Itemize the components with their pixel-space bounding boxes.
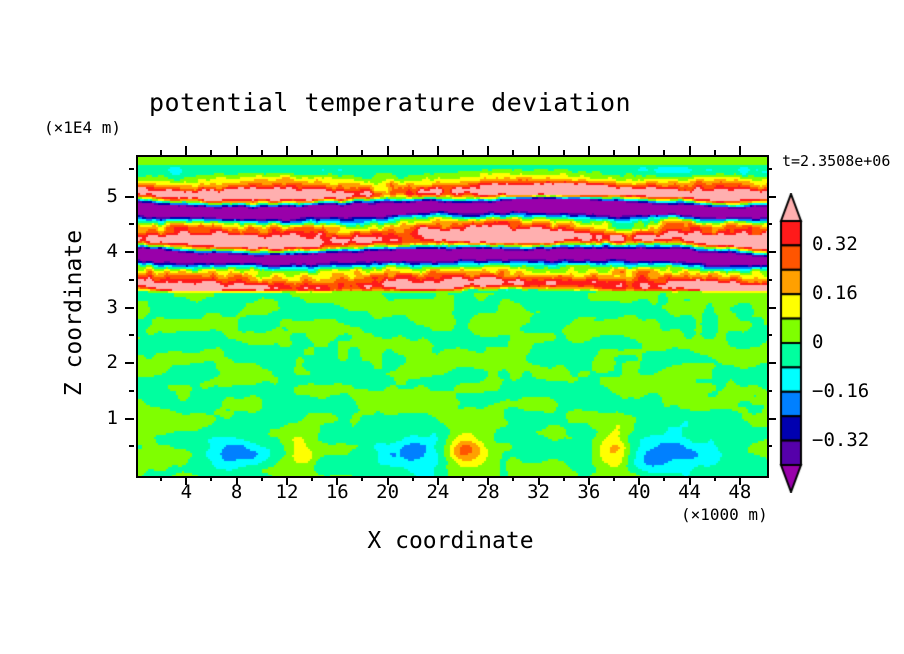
- x-minor-tick-mark: [714, 476, 716, 481]
- y-minor-tick-mark: [129, 334, 134, 336]
- x-tick-label: 44: [670, 481, 710, 503]
- x-minor-tick-mark: [512, 476, 514, 481]
- colorbar-tick-label: −0.16: [812, 380, 869, 402]
- x-tick-mark-top: [538, 146, 540, 155]
- x-tick-mark-top: [336, 146, 338, 155]
- x-minor-tick-mark-top: [160, 150, 162, 155]
- contour-figure: potential temperature deviation (×1E4 m)…: [0, 0, 904, 654]
- x-tick-mark-top: [437, 146, 439, 155]
- x-minor-tick-mark: [311, 476, 313, 481]
- y-minor-tick-mark-right: [767, 334, 772, 336]
- x-minor-tick-mark-top: [210, 150, 212, 155]
- y-tick-mark: [125, 251, 134, 253]
- y-tick-label: 3: [88, 296, 118, 318]
- x-minor-tick-mark-top: [361, 150, 363, 155]
- x-minor-tick-mark: [412, 476, 414, 481]
- x-minor-tick-mark-top: [663, 150, 665, 155]
- x-tick-label: 4: [166, 481, 206, 503]
- x-minor-tick-mark-top: [714, 150, 716, 155]
- x-minor-tick-mark-top: [613, 150, 615, 155]
- page-title: potential temperature deviation: [0, 88, 780, 117]
- y-tick-mark: [125, 307, 134, 309]
- x-tick-label: 32: [519, 481, 559, 503]
- x-tick-label: 16: [317, 481, 357, 503]
- x-tick-mark-top: [638, 146, 640, 155]
- y-tick-mark-right: [767, 418, 776, 420]
- x-minor-tick-mark: [160, 476, 162, 481]
- x-minor-tick-mark-top: [512, 150, 514, 155]
- x-tick-label: 12: [267, 481, 307, 503]
- y-tick-mark: [125, 362, 134, 364]
- x-tick-label: 40: [619, 481, 659, 503]
- time-annotation: t=2.3508e+06: [782, 152, 890, 170]
- colorbar-tick-label: 0.32: [812, 233, 858, 255]
- y-minor-tick-mark: [129, 223, 134, 225]
- x-tick-label: 36: [569, 481, 609, 503]
- y-axis-title: Z coordinate: [61, 213, 87, 413]
- x-tick-mark-top: [739, 146, 741, 155]
- colorbar-tick-label: 0: [812, 331, 823, 353]
- x-minor-tick-mark-top: [261, 150, 263, 155]
- y-tick-label: 4: [88, 240, 118, 262]
- x-minor-tick-mark-top: [462, 150, 464, 155]
- x-minor-tick-mark-top: [563, 150, 565, 155]
- y-tick-label: 5: [88, 185, 118, 207]
- y-tick-label: 2: [88, 351, 118, 373]
- y-minor-tick-mark: [129, 390, 134, 392]
- x-axis-unit-label: (×1000 m): [681, 505, 768, 524]
- colorbar: [779, 193, 803, 493]
- x-tick-mark-top: [689, 146, 691, 155]
- y-minor-tick-mark-right: [767, 223, 772, 225]
- x-minor-tick-mark: [261, 476, 263, 481]
- x-tick-label: 8: [217, 481, 257, 503]
- x-tick-mark-top: [236, 146, 238, 155]
- y-tick-mark-right: [767, 362, 776, 364]
- y-minor-tick-mark: [129, 168, 134, 170]
- y-minor-tick-mark: [129, 279, 134, 281]
- y-minor-tick-mark-right: [767, 279, 772, 281]
- x-minor-tick-mark: [613, 476, 615, 481]
- x-minor-tick-mark-top: [311, 150, 313, 155]
- x-minor-tick-mark: [462, 476, 464, 481]
- y-tick-mark: [125, 196, 134, 198]
- x-minor-tick-mark: [663, 476, 665, 481]
- x-minor-tick-mark: [563, 476, 565, 481]
- y-tick-label: 1: [88, 407, 118, 429]
- x-tick-label: 28: [468, 481, 508, 503]
- y-tick-mark-right: [767, 196, 776, 198]
- x-tick-mark-top: [387, 146, 389, 155]
- colorbar-canvas: [779, 193, 803, 493]
- x-tick-mark-top: [487, 146, 489, 155]
- x-minor-tick-mark: [361, 476, 363, 481]
- x-minor-tick-mark: [210, 476, 212, 481]
- x-tick-mark-top: [185, 146, 187, 155]
- y-tick-mark: [125, 418, 134, 420]
- y-minor-tick-mark-right: [767, 390, 772, 392]
- x-tick-label: 20: [368, 481, 408, 503]
- y-minor-tick-mark: [129, 445, 134, 447]
- y-axis-unit-label: (×1E4 m): [44, 118, 121, 137]
- x-tick-label: 24: [418, 481, 458, 503]
- x-tick-label: 48: [720, 481, 760, 503]
- contour-field-canvas: [138, 157, 767, 476]
- y-minor-tick-mark-right: [767, 168, 772, 170]
- y-tick-mark-right: [767, 251, 776, 253]
- colorbar-tick-label: 0.16: [812, 282, 858, 304]
- y-tick-mark-right: [767, 307, 776, 309]
- plot-area: [136, 155, 769, 478]
- x-axis-title: X coordinate: [136, 528, 765, 554]
- x-tick-mark-top: [286, 146, 288, 155]
- colorbar-tick-label: −0.32: [812, 429, 869, 451]
- y-minor-tick-mark-right: [767, 445, 772, 447]
- x-minor-tick-mark-top: [412, 150, 414, 155]
- x-tick-mark-top: [588, 146, 590, 155]
